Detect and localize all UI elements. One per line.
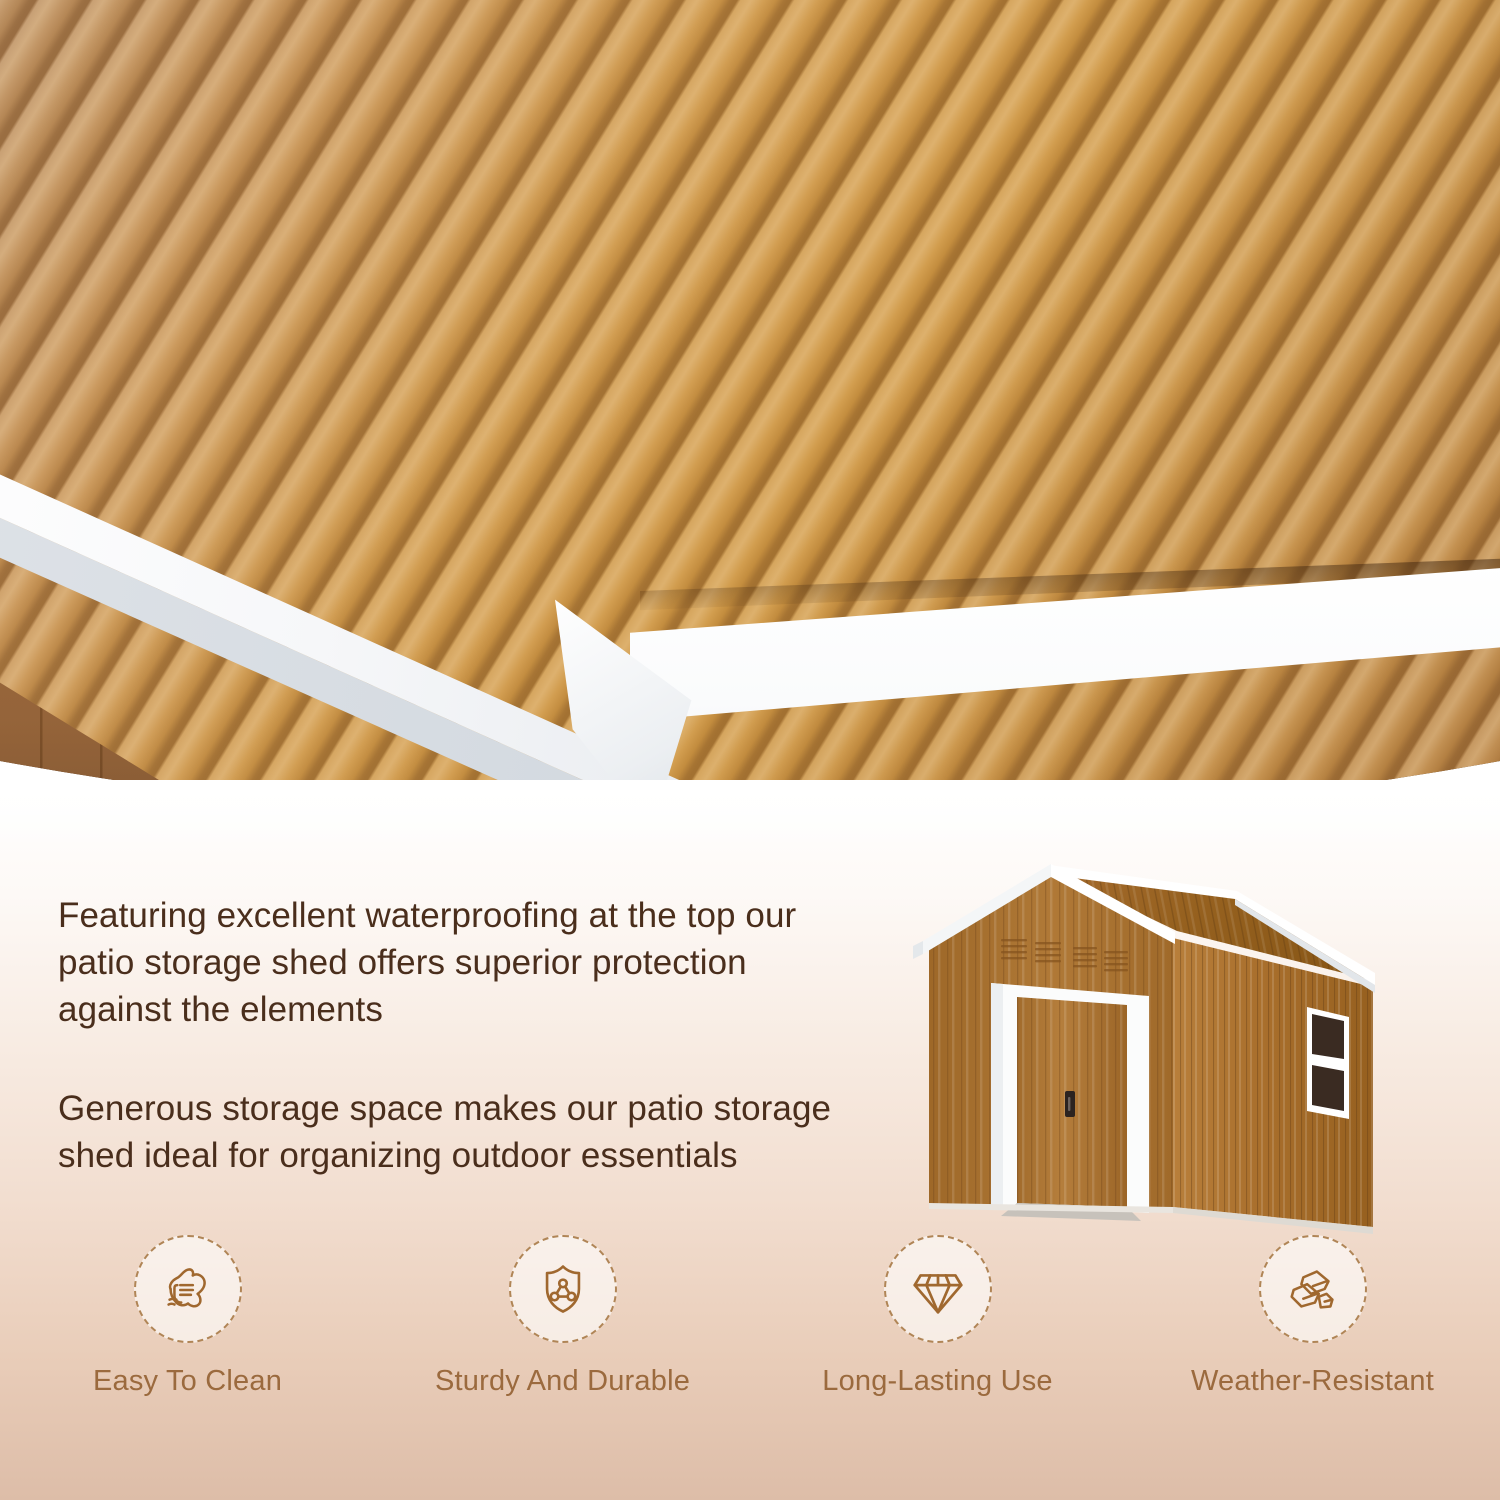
feature-item-long-lasting-use: Long-Lasting Use bbox=[750, 1235, 1125, 1398]
hero-clip bbox=[0, 0, 1500, 835]
copy-paragraph-2: Generous storage space makes our patio s… bbox=[58, 1085, 848, 1179]
feature-icon-circle bbox=[134, 1235, 242, 1343]
shed-gable-trim-tip bbox=[913, 941, 923, 959]
diamond-icon bbox=[907, 1258, 969, 1320]
copy-paragraph-1: Featuring excellent waterproofing at the… bbox=[58, 892, 848, 1033]
feature-row: Easy To Clean Sturdy And Durable bbox=[0, 1235, 1500, 1398]
feature-icon-circle bbox=[509, 1235, 617, 1343]
wiping-hand-icon bbox=[157, 1258, 219, 1320]
shield-molecule-icon bbox=[533, 1259, 593, 1319]
feature-label: Easy To Clean bbox=[93, 1365, 282, 1398]
shed-window-pane-top bbox=[1312, 1014, 1344, 1059]
shed-window-pane-bottom bbox=[1312, 1065, 1344, 1111]
feature-icon-circle bbox=[884, 1235, 992, 1343]
shed-door-handle-grip bbox=[1068, 1097, 1070, 1111]
feature-item-easy-to-clean: Easy To Clean bbox=[0, 1235, 375, 1398]
marketing-copy: Featuring excellent waterproofing at the… bbox=[58, 892, 848, 1179]
info-panel: Featuring excellent waterproofing at the… bbox=[0, 780, 1500, 1500]
shed-door-frame-left bbox=[991, 983, 1003, 1208]
feature-label: Sturdy And Durable bbox=[435, 1365, 690, 1398]
feature-icon-circle bbox=[1259, 1235, 1367, 1343]
feature-label: Long-Lasting Use bbox=[822, 1365, 1053, 1398]
hero-image bbox=[0, 0, 1500, 835]
feature-item-sturdy-and-durable: Sturdy And Durable bbox=[375, 1235, 750, 1398]
product-image bbox=[905, 835, 1375, 1285]
storage-shed-illustration bbox=[905, 835, 1375, 1285]
metal-bars-icon bbox=[1282, 1258, 1344, 1320]
feature-label: Weather-Resistant bbox=[1191, 1365, 1434, 1398]
feature-item-weather-resistant: Weather-Resistant bbox=[1125, 1235, 1500, 1398]
